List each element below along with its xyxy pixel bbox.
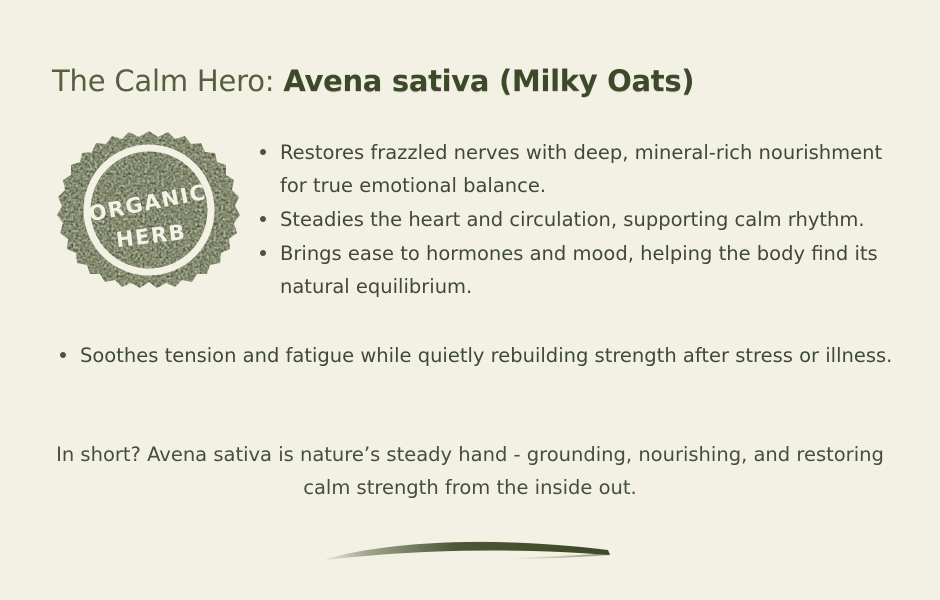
page-title: The Calm Hero: Avena sativa (Milky Oats): [52, 62, 694, 100]
benefits-list-wide: Soothes tension and fatigue while quietl…: [58, 339, 908, 373]
bullet-dot-icon: [60, 352, 66, 358]
list-item-text: Soothes tension and fatigue while quietl…: [80, 344, 892, 367]
list-item-text: Brings ease to hormones and mood, helpin…: [280, 242, 878, 298]
badge-stamp-disc: [50, 128, 248, 310]
page-title-lead: The Calm Hero:: [52, 64, 283, 98]
list-item: Steadies the heart and circulation, supp…: [258, 203, 908, 236]
benefits-list-indented: Restores frazzled nerves with deep, mine…: [258, 136, 908, 304]
page-title-herb-name: Avena sativa (Milky Oats): [283, 64, 694, 98]
herb-info-card: The Calm Hero: Avena sativa (Milky Oats): [0, 0, 940, 600]
list-item-text: Restores frazzled nerves with deep, mine…: [280, 141, 882, 197]
list-item-text: Steadies the heart and circulation, supp…: [280, 208, 865, 231]
list-item: Restores frazzled nerves with deep, mine…: [258, 136, 908, 202]
decorative-swoosh-divider: [320, 528, 630, 574]
summary-paragraph: In short? Avena sativa is nature’s stead…: [50, 438, 890, 504]
organic-herb-badge: ORGANIC HERB: [50, 128, 248, 310]
list-item: Brings ease to hormones and mood, helpin…: [258, 237, 908, 303]
swoosh-stroke-secondary: [510, 553, 609, 559]
bullet-dot-icon: [260, 149, 266, 155]
bullet-dot-icon: [260, 216, 266, 222]
list-item: Soothes tension and fatigue while quietl…: [58, 339, 908, 372]
bullet-dot-icon: [260, 250, 266, 256]
